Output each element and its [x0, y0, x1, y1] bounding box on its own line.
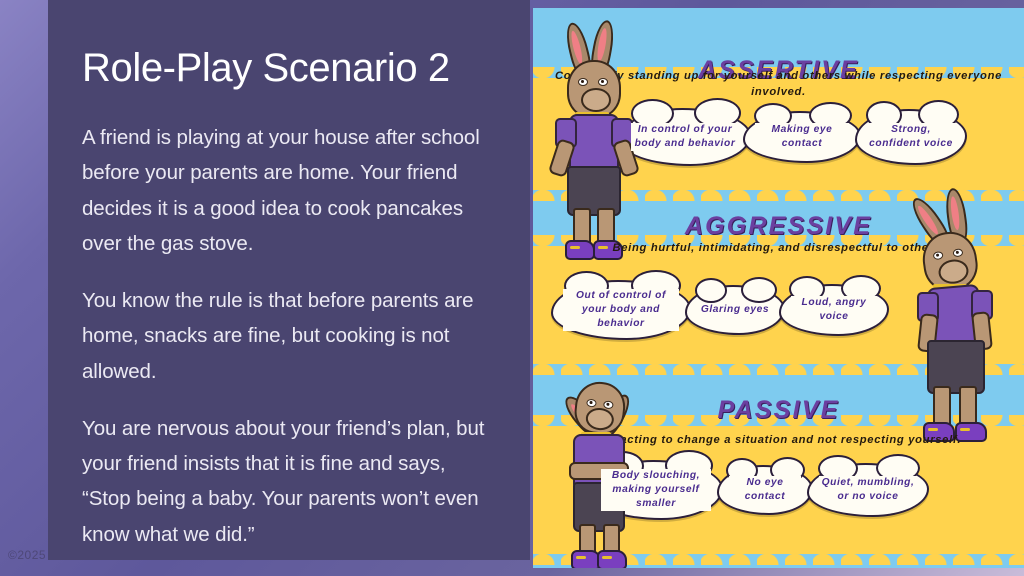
- scenario-paragraph-3: You are nervous about your friend’s plan…: [82, 411, 486, 552]
- rabbit-head: [572, 380, 627, 437]
- eye-right: [598, 78, 608, 86]
- cloud-assertive-3: Strong, confident voice: [855, 109, 967, 165]
- muzzle: [585, 407, 615, 432]
- cloud-text: In control of your body and behavior: [631, 123, 739, 151]
- cloud-passive-3: Quiet, mumbling, or no voice: [807, 463, 929, 517]
- cloud-aggressive-3: Loud, angry voice: [779, 284, 889, 336]
- text-panel: Role-Play Scenario 2 A friend is playing…: [48, 0, 530, 560]
- scenario-paragraph-2: You know the rule is that before parents…: [82, 283, 486, 389]
- cloud-text: Quiet, mumbling, or no voice: [819, 476, 917, 504]
- eye-left: [578, 78, 588, 86]
- page-title: Role-Play Scenario 2: [82, 46, 486, 90]
- cloud-row-passive: Body slouching, making yourself smaller …: [589, 460, 1009, 520]
- cloud-aggressive-1: Out of control of your body and behavior: [551, 280, 691, 340]
- cloud-text: Loud, angry voice: [791, 296, 877, 324]
- muzzle: [937, 258, 970, 286]
- cloud-text: Glaring eyes: [701, 303, 769, 317]
- muzzle: [581, 88, 611, 112]
- cloud-text: No eye contact: [729, 476, 801, 504]
- cloud-assertive-2: Making eye contact: [743, 111, 861, 163]
- cloud-passive-2: No eye contact: [717, 465, 813, 515]
- scenario-paragraph-1: A friend is playing at your house after …: [82, 120, 486, 261]
- copyright-notice: ©2025: [8, 548, 46, 562]
- cloud-row-assertive: In control of your body and behavior Mak…: [619, 108, 1019, 166]
- slide: ©2025 Role-Play Scenario 2 A friend is p…: [0, 0, 1024, 576]
- communication-styles-infographic: ASSERTIVE Confidently standing up for yo…: [533, 8, 1024, 568]
- cloud-text: Out of control of your body and behavior: [563, 289, 679, 330]
- cloud-text: Strong, confident voice: [867, 123, 955, 151]
- rabbit-head: [567, 60, 621, 118]
- cloud-aggressive-2: Glaring eyes: [685, 285, 785, 335]
- shoe-right: [597, 550, 627, 568]
- eye-right: [952, 248, 963, 257]
- cloud-row-aggressive: Out of control of your body and behavior…: [551, 280, 951, 340]
- cloud-text: Making eye contact: [755, 123, 849, 151]
- cloud-text: Body slouching, making yourself smaller: [601, 469, 711, 510]
- eye-left: [933, 251, 944, 260]
- eye-left: [586, 399, 597, 408]
